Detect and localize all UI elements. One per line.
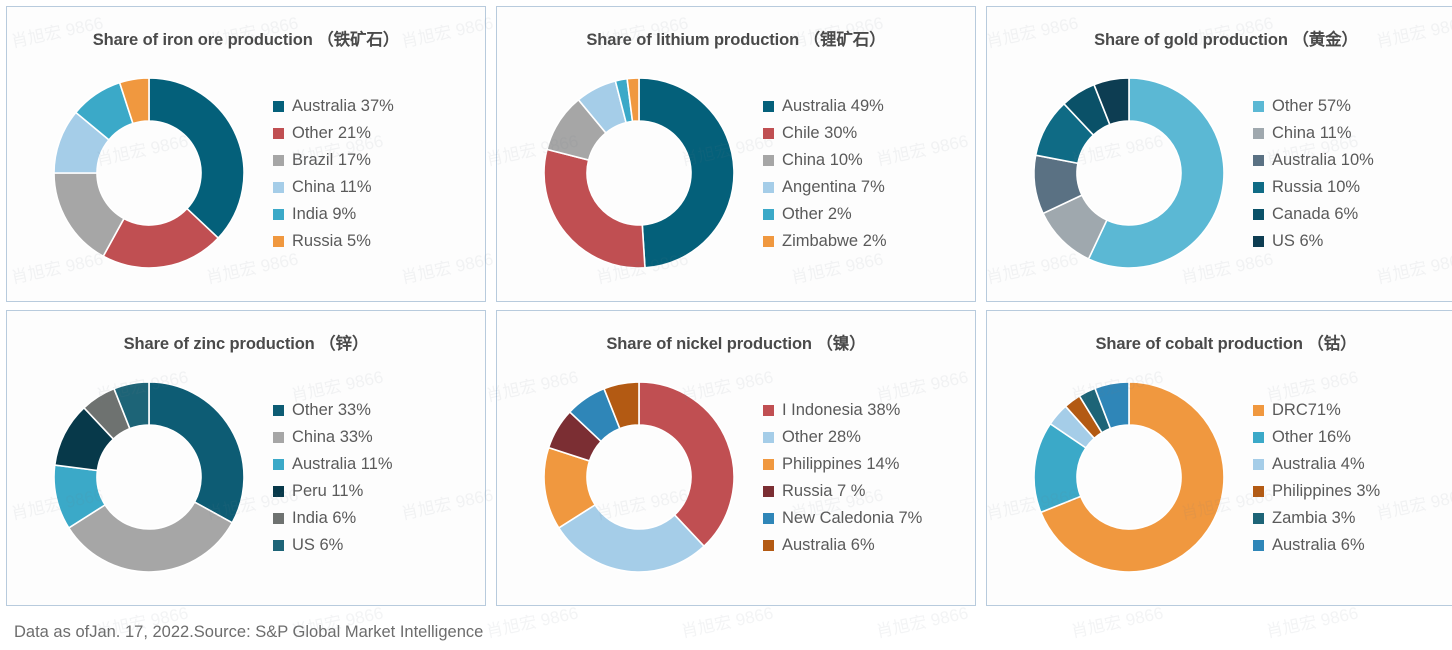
legend-swatch-icon [1253, 209, 1264, 220]
legend-item[interactable]: Other 28% [763, 429, 975, 446]
legend-label: US 6% [1272, 233, 1323, 250]
legend-item[interactable]: Australia 11% [273, 456, 485, 473]
donut-slice [544, 149, 645, 268]
legend-item[interactable]: US 6% [273, 537, 485, 554]
legend-item[interactable]: Other 57% [1253, 98, 1452, 115]
donut-slice [639, 78, 734, 268]
legend-swatch-icon [273, 101, 284, 112]
legend-swatch-icon [273, 155, 284, 166]
legend-label: DRC71% [1272, 402, 1341, 419]
donut-chart-iron-ore [29, 70, 269, 276]
panel-body: Australia 37%Other 21%Brazil 17%China 11… [7, 50, 485, 301]
legend-gold: Other 57%China 11%Australia 10%Russia 10… [1253, 98, 1452, 250]
panel-title-cn: （锌） [319, 335, 368, 353]
panel-title-cn: （钴） [1307, 335, 1356, 353]
legend-label: Australia 37% [292, 98, 394, 115]
panel-title-en: Share of cobalt production [1095, 335, 1302, 353]
legend-item[interactable]: Russia 5% [273, 233, 485, 250]
legend-item[interactable]: Canada 6% [1253, 206, 1452, 223]
legend-swatch-icon [763, 101, 774, 112]
donut-slice [149, 78, 244, 238]
legend-swatch-icon [273, 540, 284, 551]
panel-title-nickel: Share of nickel production （镍） [497, 311, 975, 354]
dashboard: Share of iron ore production （铁矿石）Austra… [0, 0, 1452, 650]
panel-title-gold: Share of gold production （黄金） [987, 7, 1452, 50]
donut-svg [46, 70, 252, 276]
legend-label: Angentina 7% [782, 179, 885, 196]
donut-chart-lithium [519, 70, 759, 276]
panel-title-cobalt: Share of cobalt production （钴） [987, 311, 1452, 354]
legend-item[interactable]: Australia 10% [1253, 152, 1452, 169]
legend-item[interactable]: Australia 49% [763, 98, 975, 115]
panel-title-en: Share of gold production [1094, 31, 1288, 49]
legend-item[interactable]: China 11% [1253, 125, 1452, 142]
legend-swatch-icon [1253, 182, 1264, 193]
legend-swatch-icon [1253, 513, 1264, 524]
legend-item[interactable]: China 11% [273, 179, 485, 196]
legend-label: Australia 6% [1272, 537, 1365, 554]
panel-title-zinc: Share of zinc production （锌） [7, 311, 485, 354]
legend-item[interactable]: New Caledonia 7% [763, 510, 975, 527]
legend-item[interactable]: Russia 7 % [763, 483, 975, 500]
legend-swatch-icon [763, 486, 774, 497]
legend-label: Chile 30% [782, 125, 857, 142]
donut-chart-nickel [519, 374, 759, 580]
legend-swatch-icon [1253, 128, 1264, 139]
donut-slice [149, 382, 244, 523]
legend-swatch-icon [763, 155, 774, 166]
legend-label: Other 16% [1272, 429, 1351, 446]
legend-item[interactable]: US 6% [1253, 233, 1452, 250]
legend-cobalt: DRC71%Other 16%Australia 4%Philippines 3… [1253, 402, 1452, 554]
legend-label: Brazil 17% [292, 152, 371, 169]
legend-item[interactable]: Australia 4% [1253, 456, 1452, 473]
legend-item[interactable]: China 33% [273, 429, 485, 446]
legend-item[interactable]: Chile 30% [763, 125, 975, 142]
legend-swatch-icon [273, 405, 284, 416]
legend-item[interactable]: Brazil 17% [273, 152, 485, 169]
chart-panel-zinc: Share of zinc production （锌）Other 33%Chi… [6, 310, 486, 606]
legend-item[interactable]: India 6% [273, 510, 485, 527]
panel-title-en: Share of lithium production [586, 31, 799, 49]
legend-label: Russia 7 % [782, 483, 865, 500]
chart-panel-nickel: Share of nickel production （镍）I Indonesi… [496, 310, 976, 606]
legend-item[interactable]: China 10% [763, 152, 975, 169]
panel-body: I Indonesia 38%Other 28%Philippines 14%R… [497, 354, 975, 605]
chart-panel-gold: Share of gold production （黄金）Other 57%Ch… [986, 6, 1452, 302]
legend-item[interactable]: Russia 10% [1253, 179, 1452, 196]
legend-lithium: Australia 49%Chile 30%China 10%Angentina… [763, 98, 975, 250]
legend-swatch-icon [1253, 101, 1264, 112]
panel-body: Other 57%China 11%Australia 10%Russia 10… [987, 50, 1452, 301]
legend-label: Australia 11% [292, 456, 393, 473]
legend-swatch-icon [273, 459, 284, 470]
legend-swatch-icon [273, 513, 284, 524]
legend-item[interactable]: Philippines 3% [1253, 483, 1452, 500]
donut-slice [639, 382, 734, 546]
legend-swatch-icon [763, 405, 774, 416]
legend-swatch-icon [273, 486, 284, 497]
legend-item[interactable]: Other 2% [763, 206, 975, 223]
legend-item[interactable]: Other 21% [273, 125, 485, 142]
legend-label: Australia 6% [782, 537, 875, 554]
legend-label: Australia 10% [1272, 152, 1374, 169]
legend-item[interactable]: Zimbabwe 2% [763, 233, 975, 250]
panel-body: Other 33%China 33%Australia 11%Peru 11%I… [7, 354, 485, 605]
legend-item[interactable]: I Indonesia 38% [763, 402, 975, 419]
legend-label: Peru 11% [292, 483, 363, 500]
legend-label: Other 57% [1272, 98, 1351, 115]
chart-panel-lithium: Share of lithium production （锂矿石）Austral… [496, 6, 976, 302]
legend-swatch-icon [763, 209, 774, 220]
panel-title-cn: （镍） [816, 335, 865, 353]
legend-item[interactable]: Australia 6% [1253, 537, 1452, 554]
legend-swatch-icon [273, 432, 284, 443]
legend-label: China 11% [292, 179, 372, 196]
legend-label: China 11% [1272, 125, 1352, 142]
legend-item[interactable]: India 9% [273, 206, 485, 223]
legend-swatch-icon [1253, 459, 1264, 470]
legend-swatch-icon [763, 128, 774, 139]
source-footnote: Data as ofJan. 17, 2022.Source: S&P Glob… [14, 623, 483, 642]
panel-title-cn: （锂矿石） [804, 31, 886, 49]
legend-item[interactable]: DRC71% [1253, 402, 1452, 419]
legend-swatch-icon [273, 182, 284, 193]
legend-label: India 6% [292, 510, 356, 527]
legend-swatch-icon [273, 236, 284, 247]
donut-svg [536, 70, 742, 276]
chart-panel-iron-ore: Share of iron ore production （铁矿石）Austra… [6, 6, 486, 302]
legend-label: Zimbabwe 2% [782, 233, 887, 250]
panel-title-cn: （黄金） [1292, 31, 1358, 49]
legend-label: Russia 5% [292, 233, 371, 250]
legend-swatch-icon [763, 432, 774, 443]
legend-swatch-icon [763, 540, 774, 551]
legend-label: Canada 6% [1272, 206, 1358, 223]
legend-label: Russia 10% [1272, 179, 1360, 196]
legend-iron-ore: Australia 37%Other 21%Brazil 17%China 11… [273, 98, 485, 250]
legend-swatch-icon [1253, 236, 1264, 247]
legend-label: New Caledonia 7% [782, 510, 922, 527]
legend-label: Other 28% [782, 429, 861, 446]
legend-swatch-icon [763, 182, 774, 193]
legend-label: I Indonesia 38% [782, 402, 900, 419]
legend-swatch-icon [1253, 405, 1264, 416]
legend-label: Other 21% [292, 125, 371, 142]
legend-label: Australia 49% [782, 98, 884, 115]
legend-label: Philippines 14% [782, 456, 899, 473]
legend-item[interactable]: Peru 11% [273, 483, 485, 500]
legend-label: Other 33% [292, 402, 371, 419]
donut-svg [1026, 70, 1232, 276]
panel-title-lithium: Share of lithium production （锂矿石） [497, 7, 975, 50]
legend-item[interactable]: Zambia 3% [1253, 510, 1452, 527]
legend-item[interactable]: Other 33% [273, 402, 485, 419]
legend-label: India 9% [292, 206, 356, 223]
donut-chart-zinc [29, 374, 269, 580]
legend-label: Philippines 3% [1272, 483, 1380, 500]
legend-item[interactable]: Australia 6% [763, 537, 975, 554]
panel-title-en: Share of iron ore production [93, 31, 313, 49]
legend-label: US 6% [292, 537, 343, 554]
legend-swatch-icon [1253, 540, 1264, 551]
legend-label: Australia 4% [1272, 456, 1365, 473]
legend-swatch-icon [763, 513, 774, 524]
donut-chart-cobalt [1009, 374, 1249, 580]
donut-chart-gold [1009, 70, 1249, 276]
panel-title-en: Share of zinc production [124, 335, 315, 353]
legend-nickel: I Indonesia 38%Other 28%Philippines 14%R… [763, 402, 975, 554]
legend-swatch-icon [273, 128, 284, 139]
donut-svg [46, 374, 252, 580]
legend-item[interactable]: Angentina 7% [763, 179, 975, 196]
panel-body: DRC71%Other 16%Australia 4%Philippines 3… [987, 354, 1452, 605]
legend-swatch-icon [763, 459, 774, 470]
legend-swatch-icon [763, 236, 774, 247]
legend-swatch-icon [1253, 432, 1264, 443]
legend-swatch-icon [273, 209, 284, 220]
panel-body: Australia 49%Chile 30%China 10%Angentina… [497, 50, 975, 301]
legend-item[interactable]: Other 16% [1253, 429, 1452, 446]
legend-item[interactable]: Philippines 14% [763, 456, 975, 473]
legend-item[interactable]: Australia 37% [273, 98, 485, 115]
legend-label: Zambia 3% [1272, 510, 1355, 527]
legend-label: Other 2% [782, 206, 852, 223]
panel-title-cn: （铁矿石） [317, 31, 399, 49]
panel-title-iron-ore: Share of iron ore production （铁矿石） [7, 7, 485, 50]
legend-swatch-icon [1253, 486, 1264, 497]
legend-label: China 10% [782, 152, 863, 169]
legend-label: China 33% [292, 429, 373, 446]
chart-grid: Share of iron ore production （铁矿石）Austra… [0, 0, 1452, 606]
legend-swatch-icon [1253, 155, 1264, 166]
panel-title-en: Share of nickel production [606, 335, 812, 353]
donut-svg [1026, 374, 1232, 580]
chart-panel-cobalt: Share of cobalt production （钴）DRC71%Othe… [986, 310, 1452, 606]
donut-svg [536, 374, 742, 580]
legend-zinc: Other 33%China 33%Australia 11%Peru 11%I… [273, 402, 485, 554]
